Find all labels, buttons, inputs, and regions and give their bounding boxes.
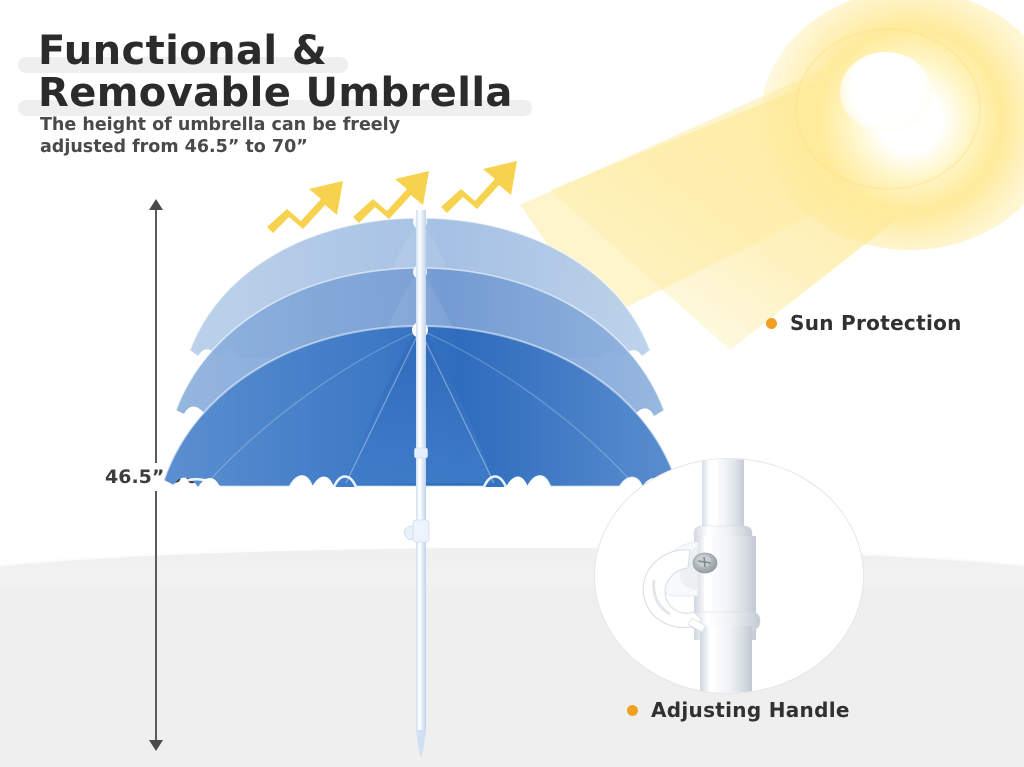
feature-label-text: Adjusting Handle <box>651 698 850 722</box>
bullet-dot-icon <box>766 318 777 329</box>
bent-arrow-icon <box>353 171 429 223</box>
page-title-line-1: Functional & <box>38 28 327 74</box>
bent-arrow-icon <box>267 181 343 233</box>
page-title-line-2: Removable Umbrella <box>38 70 513 116</box>
feature-label-text: Sun Protection <box>790 311 962 335</box>
handle-detail-circle <box>594 458 864 694</box>
umbrella-illustration <box>150 190 690 767</box>
feature-label-adjusting-handle: Adjusting Handle <box>627 698 850 722</box>
sun-core <box>840 52 932 132</box>
reflected-rays-group <box>265 155 565 250</box>
infographic-canvas: Functional & Removable Umbrella The heig… <box>0 0 1024 767</box>
bullet-dot-icon <box>627 705 638 716</box>
feature-label-sun-protection: Sun Protection <box>766 311 962 335</box>
page-subtitle: The height of umbrella can be freely adj… <box>40 114 400 158</box>
bent-arrow-icon <box>441 161 517 213</box>
page-subtitle-line-1: The height of umbrella can be freely <box>40 114 400 136</box>
